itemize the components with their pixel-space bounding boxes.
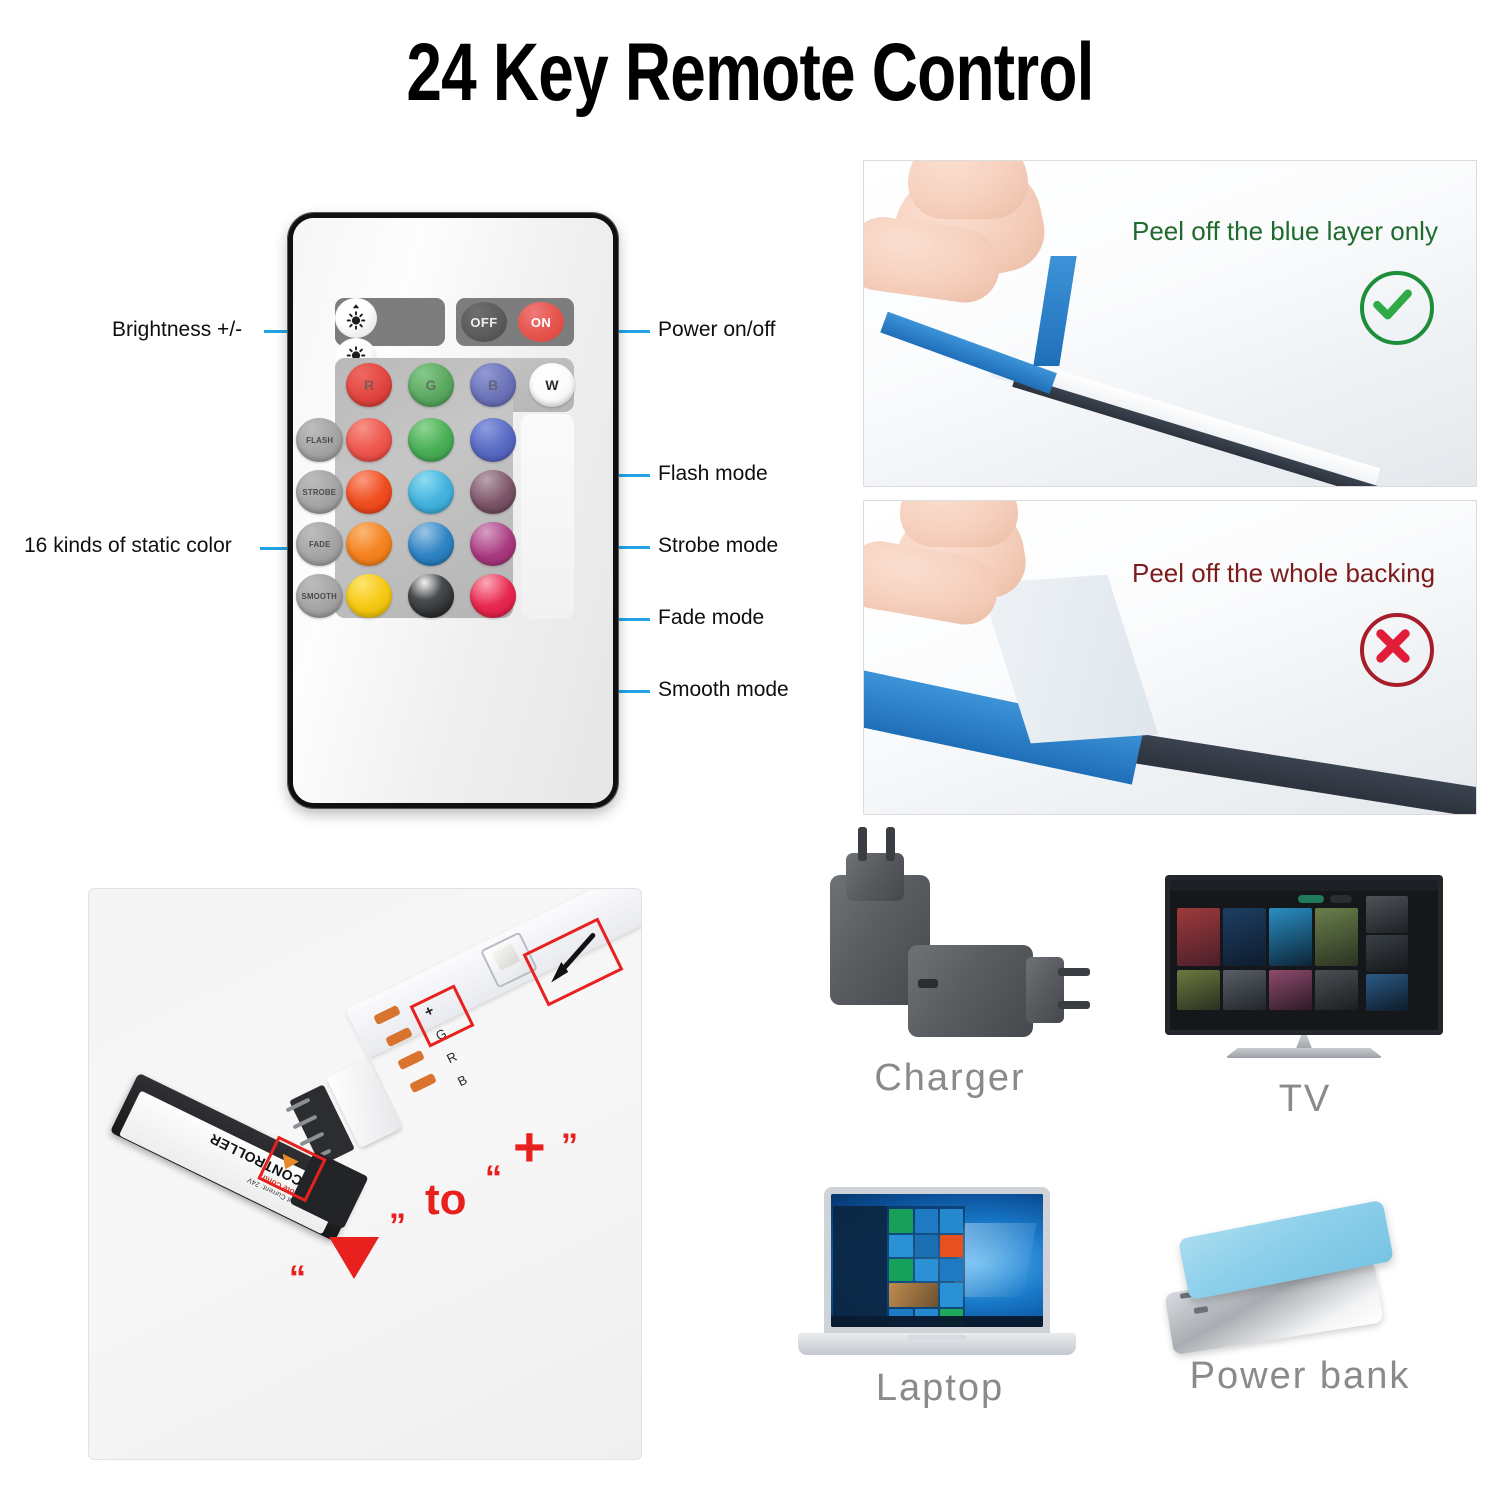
start-tile [915, 1259, 938, 1281]
color-button-swatch[interactable] [470, 418, 516, 462]
brightness-up-icon [343, 303, 369, 333]
color-button-swatch[interactable] [470, 522, 516, 566]
callout-static-color: 16 kinds of static color [24, 534, 232, 558]
start-tile [889, 1283, 938, 1307]
color-button-b[interactable]: B [470, 363, 516, 407]
strip-pad [409, 1073, 437, 1093]
tv-poster [1366, 935, 1408, 972]
tv-poster [1177, 908, 1220, 966]
start-tile [889, 1259, 913, 1281]
tv-poster [1269, 908, 1312, 966]
callout-power: Power on/off [658, 318, 776, 342]
remote-face: OFF ON R G B [293, 218, 613, 803]
charger-prong [886, 827, 895, 861]
device-power-bank: Power bank [1150, 1195, 1450, 1425]
controller-connection-panel: + G R B Play Output Current: 24V Mini Re… [88, 888, 642, 1460]
color-button-g[interactable]: G [408, 363, 454, 407]
peel-instruction-text: Peel off the whole backing [1132, 558, 1435, 589]
controller-annotation-plus-icon: + [513, 1127, 546, 1167]
mode-button-label: FLASH [306, 435, 333, 445]
tv-poster [1315, 970, 1358, 1010]
hand-knuckle [900, 500, 1018, 547]
charger-plug-front [1026, 957, 1064, 1023]
device-label-tv: TV [1155, 1078, 1455, 1121]
callout-brightness: Brightness +/- [112, 318, 242, 342]
power-off-button[interactable]: OFF [461, 302, 507, 342]
remote-diagram: Brightness +/- 16 kinds of static color … [0, 150, 850, 850]
color-button-swatch[interactable] [470, 574, 516, 618]
hand-knuckle [908, 160, 1028, 219]
peel-instruction-panel-correct: Peel off the blue layer only [863, 160, 1477, 487]
tv-poster [1315, 908, 1358, 966]
charger-prong [1058, 968, 1090, 976]
controller-annotation-quote-close: ” [389, 1207, 406, 1246]
tv-poster [1366, 896, 1408, 933]
power-on-button[interactable]: ON [518, 302, 564, 342]
start-menu-panel [833, 1206, 887, 1316]
brightness-up-button[interactable] [335, 298, 377, 338]
callout-flash: Flash mode [658, 462, 768, 486]
mode-button-label: FADE [309, 539, 331, 549]
color-button-swatch[interactable] [346, 470, 392, 514]
color-button-swatch[interactable] [470, 470, 516, 514]
mode-button-label: STROBE [303, 487, 337, 497]
tv-ui-nav-chip [1298, 895, 1324, 903]
start-tile [940, 1235, 963, 1257]
color-button-label: B [470, 363, 516, 407]
infographic-page: 24 Key Remote Control Brightness +/- 16 … [0, 0, 1500, 1500]
controller-annotation-triangle-icon [329, 1237, 379, 1279]
tv-poster [1223, 908, 1266, 966]
device-charger: Charger [800, 835, 1100, 1125]
tv-poster [1177, 970, 1220, 1010]
start-tile [889, 1235, 913, 1257]
start-tile [940, 1259, 963, 1281]
callout-strobe: Strobe mode [658, 534, 778, 558]
peel-instruction-text: Peel off the blue layer only [1132, 216, 1438, 247]
mode-button-smooth[interactable]: SMOOTH [296, 574, 343, 618]
color-button-w[interactable]: W [529, 363, 575, 407]
charger-usb-port-icon [918, 979, 938, 988]
laptop-trackpad-notch [908, 1335, 966, 1340]
start-tile [940, 1283, 963, 1307]
cross-mark-icon [1360, 613, 1434, 687]
tv-ui-nav-chip [1330, 895, 1352, 903]
laptop-lid [824, 1187, 1050, 1337]
mode-button-fade[interactable]: FADE [296, 522, 343, 566]
tv-poster [1366, 974, 1408, 1011]
mode-button-strobe[interactable]: STROBE [296, 470, 343, 514]
strip-pad [397, 1050, 425, 1070]
tv-frame [1165, 875, 1443, 1035]
tv-stand-base [1225, 1048, 1383, 1058]
color-button-swatch[interactable] [408, 522, 454, 566]
taskbar [831, 1316, 1043, 1327]
device-label-laptop: Laptop [790, 1367, 1090, 1410]
laptop-screen [831, 1194, 1043, 1327]
device-label-power-bank: Power bank [1150, 1355, 1450, 1398]
color-button-swatch[interactable] [346, 574, 392, 618]
color-button-label: R [346, 363, 392, 407]
color-button-swatch[interactable] [346, 522, 392, 566]
mode-button-strip [521, 414, 574, 619]
charger-prong [1058, 1001, 1090, 1009]
controller-annotation-quote-open-2: “ [485, 1159, 502, 1198]
device-tv: TV [1155, 870, 1455, 1140]
start-tile [940, 1209, 963, 1233]
controller-annotation-to: to [425, 1175, 467, 1225]
mode-button-flash[interactable]: FLASH [296, 418, 343, 462]
color-button-label: G [408, 363, 454, 407]
callout-smooth: Smooth mode [658, 678, 789, 702]
mode-button-label: SMOOTH [302, 591, 337, 601]
color-button-swatch[interactable] [408, 574, 454, 618]
color-button-swatch[interactable] [346, 418, 392, 462]
tv-poster [1269, 970, 1312, 1010]
charger-plug-back [846, 853, 904, 901]
remote-control-body: OFF ON R G B [288, 213, 618, 808]
strip-pin-label-b: B [455, 1072, 469, 1089]
color-button-label: W [529, 363, 575, 407]
power-button-pad: OFF ON [456, 298, 574, 346]
tv-poster [1223, 970, 1266, 1010]
callout-fade: Fade mode [658, 606, 764, 630]
strip-pin-label-r: R [444, 1049, 459, 1067]
tv-screen [1170, 880, 1438, 1030]
color-button-swatch[interactable] [408, 470, 454, 514]
start-tile [889, 1209, 913, 1233]
charger-prong [858, 827, 867, 861]
check-mark-icon [1360, 271, 1434, 345]
device-label-charger: Charger [800, 1057, 1100, 1100]
brightness-button-pad [335, 298, 445, 346]
device-laptop: Laptop [790, 1185, 1090, 1435]
color-button-r[interactable]: R [346, 363, 392, 407]
controller-annotation-quote-close-2: ” [561, 1127, 578, 1166]
page-title: 24 Key Remote Control [165, 26, 1335, 120]
tv-ui-topbar [1170, 880, 1438, 891]
start-tile [915, 1209, 938, 1233]
start-tile [915, 1235, 938, 1257]
peel-instruction-panel-incorrect: Peel off the whole backing [863, 500, 1477, 815]
controller-annotation-quote-open: “ [289, 1259, 306, 1298]
color-button-swatch[interactable] [408, 418, 454, 462]
charger-body-front [908, 945, 1033, 1037]
